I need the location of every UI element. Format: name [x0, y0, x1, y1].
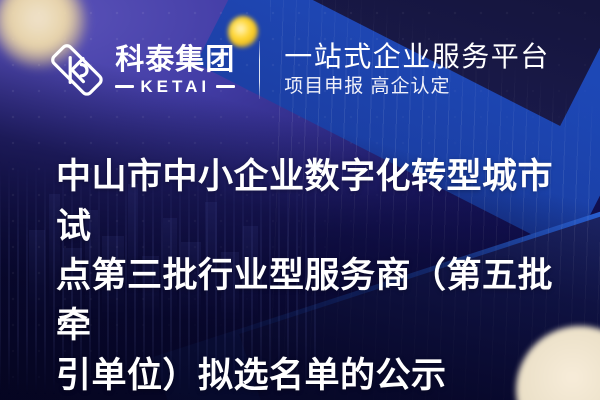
brand-wordmark: 科泰集团 KETAI: [115, 45, 235, 95]
brand-name-en-row: KETAI: [115, 78, 235, 95]
announcement-banner: 科泰集团 KETAI 一站式企业服务平台 项目申报 高企认定 中山市中小企业数字…: [0, 0, 600, 400]
brand-name-cn: 科泰集团: [115, 45, 235, 75]
ketai-diamond-kp-mark-icon: [50, 43, 104, 97]
announcement-title-line-2: 点第三批行业型服务商（第五批牵: [56, 251, 556, 350]
brand-name-en: KETAI: [140, 78, 210, 95]
announcement-title-line-3: 引单位）拟选名单的公示: [56, 351, 556, 400]
brand-lockup: 科泰集团 KETAI: [50, 43, 259, 97]
tagline-block: 一站式企业服务平台 项目申报 高企认定: [260, 42, 550, 98]
tagline-main: 一站式企业服务平台: [284, 42, 550, 73]
tagline-sub: 项目申报 高企认定: [284, 77, 550, 98]
brand-rule-right-icon: [216, 85, 235, 88]
announcement-title-block: 中山市中小企业数字化转型城市试 点第三批行业型服务商（第五批牵 引单位）拟选名单…: [56, 152, 556, 400]
announcement-title-line-1: 中山市中小企业数字化转型城市试: [56, 152, 556, 251]
brand-rule-left-icon: [115, 85, 134, 88]
banner-header: 科泰集团 KETAI 一站式企业服务平台 项目申报 高企认定: [0, 0, 600, 140]
